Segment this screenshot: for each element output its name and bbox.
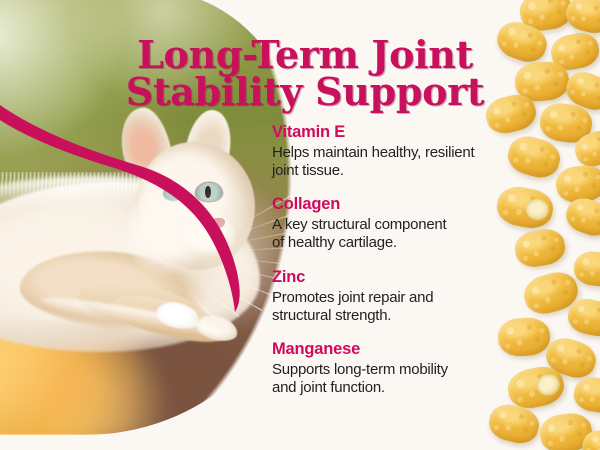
nutrient-name: Vitamin E <box>272 123 517 143</box>
headline-line-2: Stability Support <box>95 74 515 111</box>
nutrient-item-collagen: Collagen A key structural component of h… <box>272 195 517 252</box>
nutrient-description-line-1: Supports long-term mobility <box>272 361 448 378</box>
nutrient-description-line-1: Promotes joint repair and <box>272 289 433 306</box>
nutrient-description-line-2: joint tissue. <box>272 162 344 179</box>
nutrient-name: Manganese <box>272 340 517 360</box>
nutrient-item-vitamin-e: Vitamin E Helps maintain healthy, resili… <box>272 123 517 180</box>
nutrient-item-manganese: Manganese Supports long-term mobility an… <box>272 340 517 397</box>
nutrient-name: Collagen <box>272 195 517 215</box>
nutrient-description-line-2: structural strength. <box>272 307 391 324</box>
nutrient-description: Promotes joint repair and structural str… <box>272 289 517 326</box>
kibble-piece <box>512 226 567 270</box>
kibble-piece <box>572 375 600 415</box>
nutrient-description-line-1: A key structural component <box>272 216 446 233</box>
kibble-piece <box>563 0 600 37</box>
nutrient-description-line-2: and joint function. <box>272 379 385 396</box>
nutrient-description-line-2: of healthy cartilage. <box>272 234 397 251</box>
nutrient-description: Supports long-term mobility and joint fu… <box>272 361 517 398</box>
kibble-piece <box>572 250 600 289</box>
nutrient-description-line-1: Helps maintain healthy, resilient <box>272 144 474 161</box>
nutrient-item-zinc: Zinc Promotes joint repair and structura… <box>272 268 517 325</box>
nutrient-description: A key structural component of healthy ca… <box>272 216 517 253</box>
nutrient-name: Zinc <box>272 268 517 288</box>
nutrient-list: Vitamin E Helps maintain healthy, resili… <box>272 123 517 398</box>
poster-canvas: Long-Term Joint Stability Support Vitami… <box>0 0 600 450</box>
page-title: Long-Term Joint Stability Support <box>95 37 515 111</box>
nutrient-description: Helps maintain healthy, resilient joint … <box>272 144 517 181</box>
